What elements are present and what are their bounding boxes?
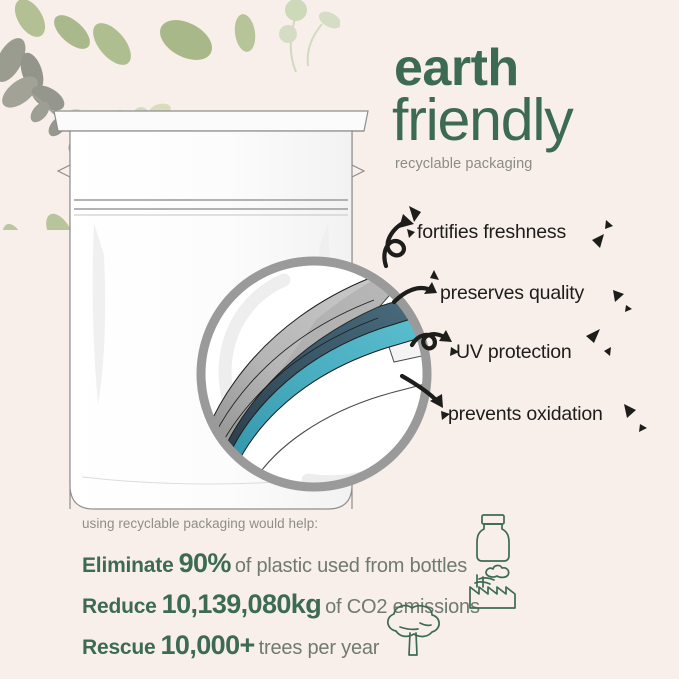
leaf-icon [16,50,47,94]
accent-tick-icon [604,347,611,356]
smoke-cloud [486,565,509,577]
stat-tail: of plastic used from bottles [235,555,467,577]
stats-intro-text: using recyclable packaging would help: [82,516,642,531]
infographic-canvas: earth friendly recyclable packaging [0,0,679,679]
headline-line-friendly: friendly [392,92,674,149]
accent-tick-icon [613,290,624,302]
stat-tail: trees per year [259,637,380,659]
accent-tick-icon [605,220,613,229]
accent-tick-icon [592,234,604,248]
pouch-top-seal [54,111,368,131]
tree-branch [400,623,431,629]
stat-row: Rescue10,000+trees per year [82,625,642,666]
stat-number: 10,000+ [161,630,255,660]
stat-verb: Rescue [82,636,156,659]
leaf-icon [0,221,30,230]
arrow-head-icon [439,330,452,342]
tree-trunk [409,633,417,655]
stats-section: using recyclable packaging would help: E… [82,516,642,666]
leaf-icon [9,0,52,42]
factory-icon [466,561,524,611]
page-title: earth friendly recyclable packaging [392,44,674,172]
stat-number: 90% [179,548,231,578]
accent-tick-icon [409,206,421,222]
stat-number: 10,139,080kg [162,589,321,619]
stat-row: Reduce10,139,080kgof CO2 emissions [82,584,642,625]
leaf-icon [316,8,340,32]
accent-tick-icon [639,424,647,432]
feature-label-fortifies-freshness: fortifies freshness [417,221,566,244]
bottle-body [477,524,509,561]
stat-verb: Eliminate [82,554,174,577]
leaf-icon [285,0,307,21]
leaf-icon [48,9,95,55]
feature-label-uv-protection: UV protection [456,341,572,364]
stat-verb: Reduce [82,595,157,618]
headline-subtitle: recyclable packaging [395,156,674,172]
stem-icon [291,2,300,72]
factory-building [470,587,515,608]
accent-tick-icon [586,329,600,343]
feature-label-preserves-quality: preserves quality [440,282,584,305]
smoke-wisp [475,578,494,584]
leaf-icon [232,13,257,53]
bottle-cap [482,515,504,524]
accent-tick-icon [407,229,415,238]
bottle-icon [470,512,516,566]
pouch-shoulder-left [58,131,70,509]
accent-tick-icon [624,404,636,418]
leaf-icon [0,70,43,113]
magnifier-cutaway [188,248,440,500]
stem-icon [308,24,322,66]
accent-tick-icon [625,305,632,312]
tree-icon [376,603,450,663]
tree-canopy [388,606,439,637]
arrow-head-icon [399,214,414,228]
stat-row: Eliminate90%of plastic used from bottles [82,543,642,584]
feature-label-prevents-oxidation: prevents oxidation [448,403,603,426]
leaf-icon [86,16,138,71]
leaf-icon [279,25,297,43]
leaf-icon [0,33,32,87]
leaf-icon [153,12,218,68]
